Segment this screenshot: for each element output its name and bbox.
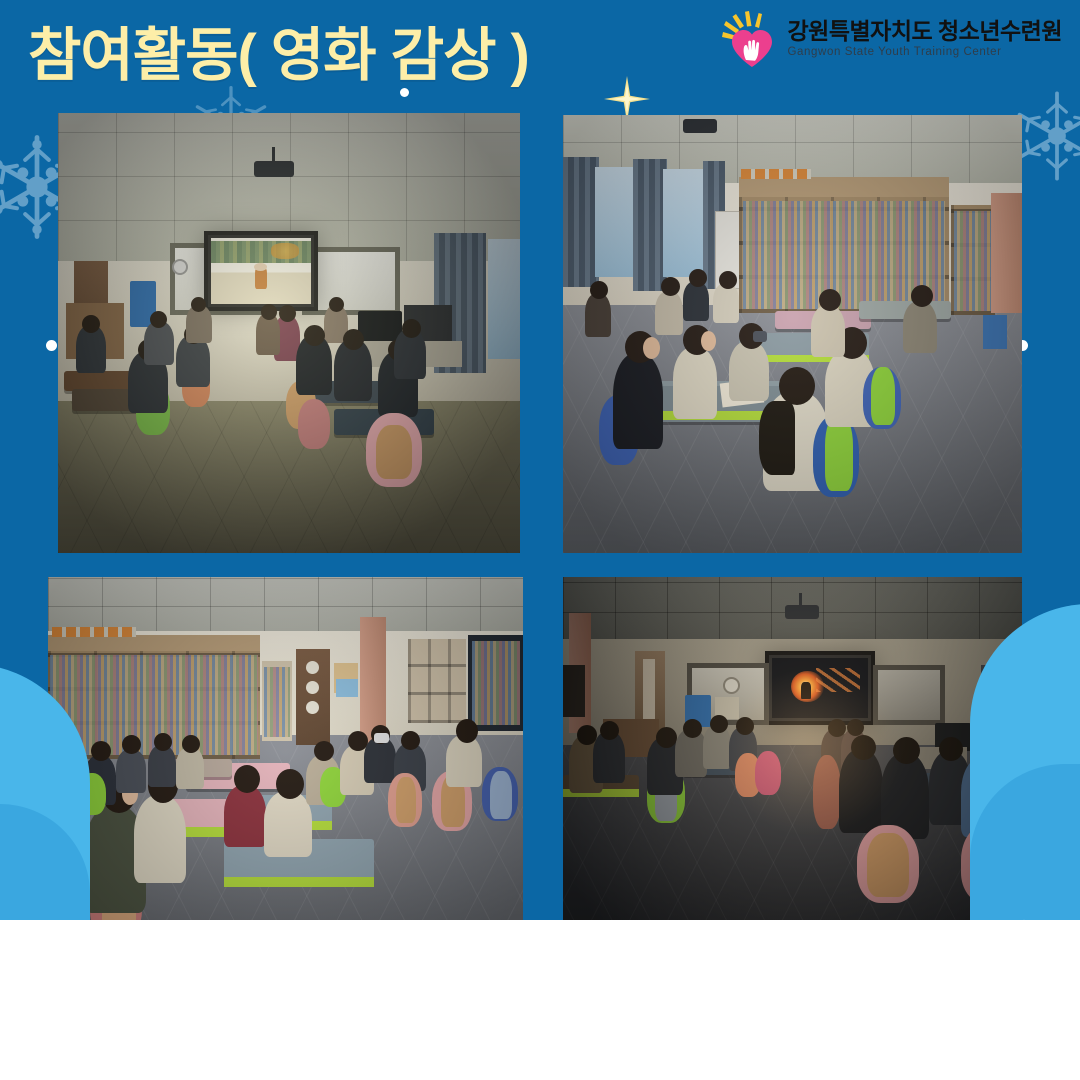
logo-text-block: 강원특별자치도 청소년수련원 Gangwon State Youth Train… [788, 20, 1062, 59]
poster-canvas: 참여활동( 영화 감상 ) 강원특별자치도 청소년수련원 Gangwon Sta… [0, 0, 1080, 1080]
logo-korean-name: 강원특별자치도 청소년수련원 [788, 20, 1062, 43]
dot-left-decoration [46, 340, 57, 351]
organization-logo: 강원특별자치도 청소년수련원 Gangwon State Youth Train… [718, 10, 1062, 68]
photo-classroom-projector-dog[interactable] [58, 113, 520, 553]
photo-dark-classroom-movie[interactable] [563, 577, 1022, 975]
dot-title-decoration [400, 88, 409, 97]
photo-library-students-watching[interactable] [563, 115, 1022, 553]
heart-hand-logo-icon [718, 10, 780, 68]
logo-english-name: Gangwon State Youth Training Center [788, 47, 1062, 59]
photo-library-desks-wide[interactable] [48, 577, 523, 975]
bottom-white-band [0, 920, 1080, 1080]
